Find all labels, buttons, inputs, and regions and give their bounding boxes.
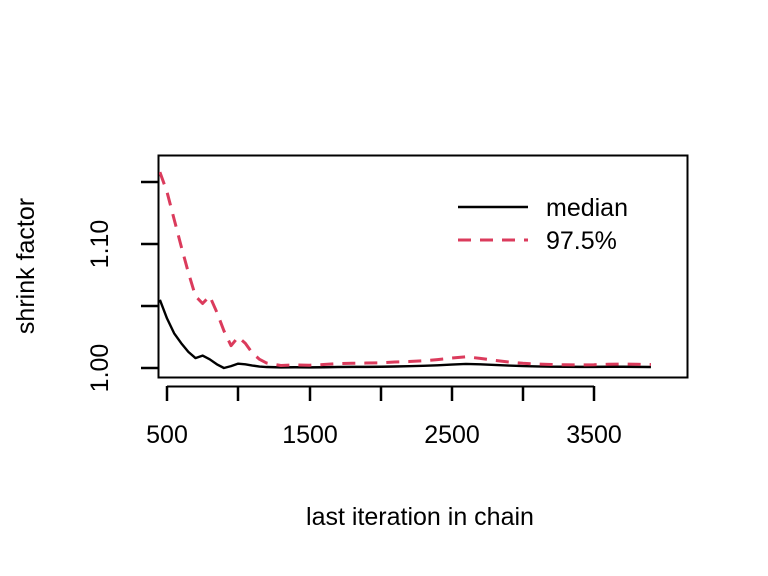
- y-axis-title: shrink factor: [12, 198, 40, 334]
- x-tick-label-500: 500: [146, 421, 188, 449]
- series-line-median: [160, 300, 651, 368]
- legend: median 97.5%: [458, 194, 628, 255]
- y-tick-label-1.00: 1.00: [86, 344, 114, 393]
- x-axis-title: last iteration in chain: [306, 503, 534, 531]
- gelman-rubin-plot: 1.10 1.00 500 1500 2500 3500 shrink fact…: [0, 0, 768, 576]
- plot-panel-border: [159, 156, 688, 378]
- y-tick-label-1.10: 1.10: [86, 220, 114, 269]
- x-axis: [167, 386, 594, 401]
- x-tick-label-2500: 2500: [424, 421, 480, 449]
- x-tick-label-3500: 3500: [566, 421, 622, 449]
- y-axis: [141, 182, 159, 368]
- chart-canvas: 1.10 1.00 500 1500 2500 3500 shrink fact…: [0, 0, 768, 576]
- legend-label-upper-quantile: 97.5%: [546, 227, 617, 255]
- x-tick-label-1500: 1500: [282, 421, 338, 449]
- legend-label-median: median: [546, 194, 628, 222]
